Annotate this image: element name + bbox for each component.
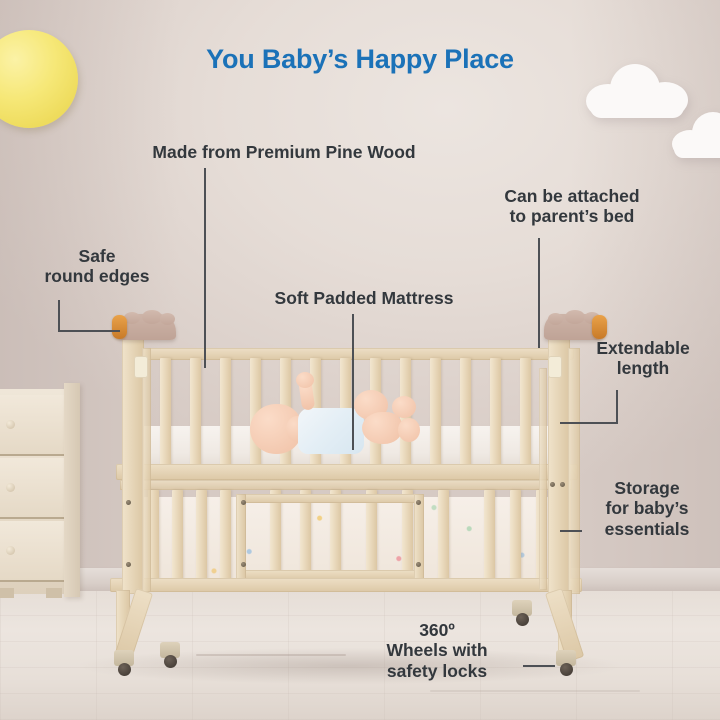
cap-bump (548, 313, 563, 325)
hardware-screw (416, 562, 421, 567)
crib-slat (510, 490, 521, 586)
dresser-drawer (0, 521, 64, 582)
crib-slat (160, 358, 171, 466)
caster-wheel-back-left (160, 642, 180, 668)
cap-bump (160, 313, 175, 325)
callout-line: Can be attached (476, 186, 668, 206)
drawer-knob-icon (6, 546, 15, 555)
dresser-foot (46, 588, 62, 598)
crib-slat (520, 358, 531, 466)
callout-line: Soft Padded Mattress (275, 288, 454, 308)
storage-gate-top-rail (236, 494, 424, 503)
cap-amber-accent (592, 315, 607, 339)
callout-line: round edges (8, 266, 186, 286)
caster-tyre (164, 655, 177, 668)
drawer-knob-icon (6, 420, 15, 429)
baby-foot (398, 418, 420, 442)
cloud-base (674, 140, 720, 158)
crib-slat (430, 358, 441, 466)
dresser-side-panel (64, 383, 80, 597)
crib-bottom-rail (110, 578, 582, 592)
baby-hand (296, 372, 314, 388)
crib-mid-rail-lower (120, 480, 572, 490)
crib-slat (196, 490, 207, 586)
callout-line: Extendable (570, 338, 716, 358)
caster-tyre (560, 663, 573, 676)
callout-premium-pine-wood: Made from Premium Pine Wood (112, 142, 456, 162)
caster-wheel-front-right (556, 650, 576, 676)
leader-line-wheels-safety-locks (523, 665, 555, 669)
sun-wall-decoration (0, 0, 126, 174)
caster-tyre (118, 663, 131, 676)
leader-segment (538, 238, 540, 348)
hardware-screw (560, 482, 565, 487)
baby-leg-lower (362, 412, 402, 444)
crib-corner-bracket (548, 356, 562, 378)
storage-gate-left-stile (236, 494, 246, 580)
hardware-screw (241, 500, 246, 505)
hardware-screw (126, 500, 131, 505)
baby-foot (392, 396, 416, 418)
callout-safe-round-edges: Safe round edges (8, 246, 186, 287)
callout-soft-padded-mattress: Soft Padded Mattress (238, 288, 490, 308)
callout-line: length (570, 358, 716, 378)
dresser-drawer (0, 458, 64, 519)
leader-line-soft-padded-mattress (352, 314, 356, 450)
hardware-screw (550, 482, 555, 487)
cap-bump (565, 310, 585, 324)
leader-line-safe-round-edges (58, 300, 120, 332)
callout-attached-to-parents-bed: Can be attached to parent’s bed (476, 186, 668, 227)
callout-line: Safe (8, 246, 186, 266)
callout-line: safety locks (352, 661, 522, 681)
callout-line: to parent’s bed (476, 206, 668, 226)
crib-slat (438, 490, 449, 586)
leader-segment (204, 168, 206, 368)
cap-bump (142, 310, 162, 324)
leader-segment (352, 314, 354, 450)
cloud-wall-decoration (672, 112, 720, 158)
product-infographic: You Baby’s Happy Place Made from Premium… (0, 0, 720, 720)
callout-wheels-safety-locks: 360º Wheels with safety locks (352, 620, 522, 681)
dresser-drawer (0, 395, 64, 456)
callout-line: Wheels with (352, 640, 522, 660)
crib-cap-left (118, 312, 184, 342)
caster-wheel-front-left (114, 650, 134, 676)
leader-segment (58, 330, 120, 332)
crib-post-right-outer (568, 348, 580, 594)
leader-line-storage-essentials (560, 530, 582, 534)
crib-slat (172, 490, 183, 586)
callout-extendable-length: Extendable length (570, 338, 716, 379)
callout-line: essentials (576, 519, 718, 539)
crib-extension-rail (539, 368, 547, 590)
leader-segment (58, 300, 60, 332)
callout-line: Storage (576, 478, 718, 498)
hardware-screw (126, 562, 131, 567)
callout-line: for baby’s (576, 498, 718, 518)
crib-slat (220, 490, 231, 586)
crib-slat (190, 358, 201, 466)
dresser-foot (0, 588, 14, 598)
crib-slat (484, 490, 495, 586)
crib-post-left-inner (142, 348, 151, 592)
crib-slat (460, 358, 471, 466)
leader-line-premium-pine-wood (204, 168, 208, 368)
crib-corner-bracket (134, 356, 148, 378)
drawer-knob-icon (6, 483, 15, 492)
page-title: You Baby’s Happy Place (0, 44, 720, 75)
leader-segment (523, 665, 555, 667)
leader-line-attached-to-parents-bed (538, 238, 542, 348)
leader-segment (560, 422, 618, 424)
storage-gate-right-stile (414, 494, 424, 580)
leader-segment (616, 390, 618, 424)
crib-slat (490, 358, 501, 466)
hardware-screw (416, 500, 421, 505)
crib-slat (220, 358, 231, 466)
baby-in-crib (242, 374, 422, 464)
callout-line: Made from Premium Pine Wood (152, 142, 415, 162)
leader-segment (560, 530, 582, 532)
leader-line-extendable-length (560, 390, 618, 426)
callout-storage-essentials: Storage for baby’s essentials (576, 478, 718, 539)
floor-plank-seam (430, 690, 640, 692)
cloud-base (590, 96, 684, 118)
hardware-screw (241, 562, 246, 567)
chest-of-drawers (0, 383, 82, 598)
callout-line: 360º (352, 620, 522, 640)
crib-mid-rail (116, 464, 578, 480)
